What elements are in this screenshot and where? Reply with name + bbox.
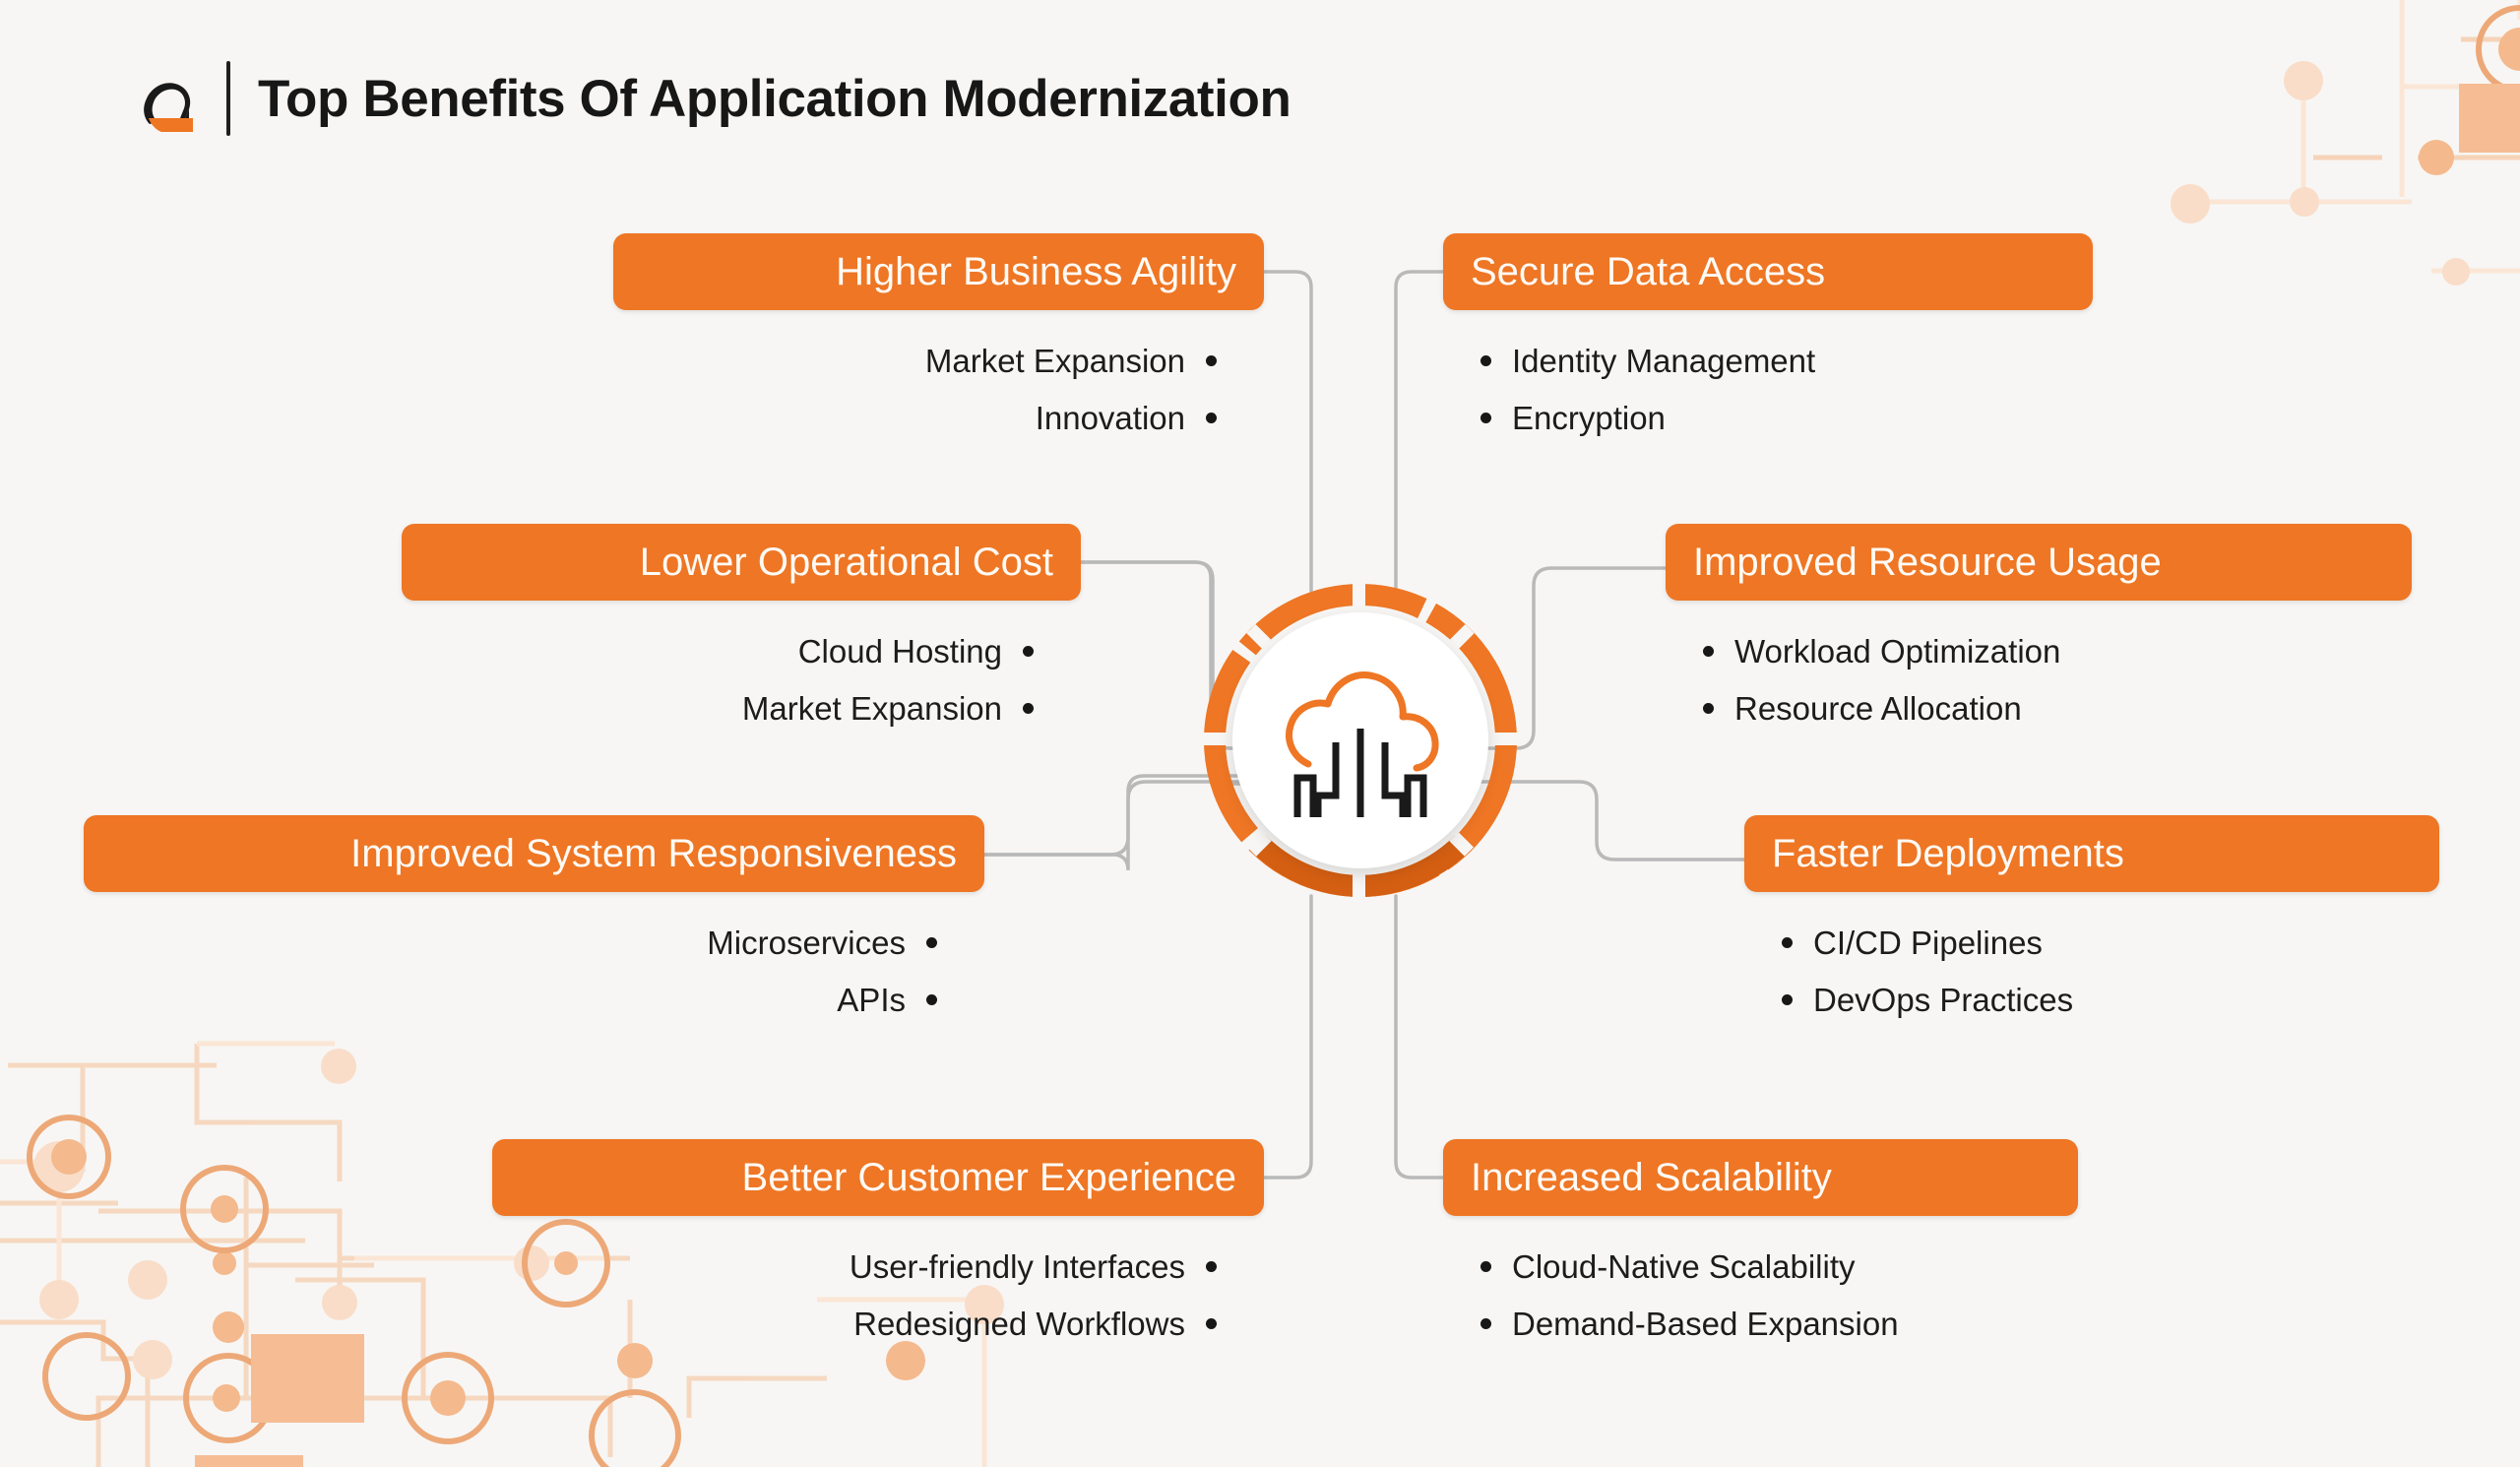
- benefit-point-list: Cloud Hosting Market Expansion: [402, 622, 1081, 736]
- bullet-dot-icon: [1703, 646, 1714, 657]
- benefit-chip[interactable]: Faster Deployments: [1744, 815, 2439, 892]
- benefit-point-list: Market Expansion Innovation: [613, 332, 1264, 446]
- benefit-node-higher-business-agility[interactable]: Higher Business Agility Market Expansion…: [613, 233, 1264, 446]
- benefit-point: Market Expansion: [402, 679, 1034, 736]
- benefit-node-faster-deployments[interactable]: Faster Deployments CI/CD Pipelines DevOp…: [1744, 815, 2439, 1028]
- benefit-point-list: Cloud-Native Scalability Demand-Based Ex…: [1443, 1238, 2078, 1352]
- benefit-chip[interactable]: Better Customer Experience: [492, 1139, 1264, 1216]
- benefit-point: Innovation: [613, 389, 1217, 446]
- benefit-point-label: User-friendly Interfaces: [850, 1250, 1185, 1283]
- benefit-point-label: Demand-Based Expansion: [1512, 1308, 1899, 1340]
- benefit-point: Market Expansion: [613, 332, 1217, 389]
- benefit-point-label: CI/CD Pipelines: [1813, 926, 2043, 959]
- benefit-title: Increased Scalability: [1471, 1158, 1832, 1197]
- benefit-point-list: Workload Optimization Resource Allocatio…: [1666, 622, 2412, 736]
- benefit-point: CI/CD Pipelines: [1782, 914, 2439, 971]
- bullet-dot-icon: [1703, 703, 1714, 714]
- center-hub: [1203, 583, 1518, 898]
- benefit-chip[interactable]: Secure Data Access: [1443, 233, 2093, 310]
- benefit-chip[interactable]: Higher Business Agility: [613, 233, 1264, 310]
- bullet-dot-icon: [926, 994, 937, 1005]
- bullet-dot-icon: [1023, 703, 1034, 714]
- benefit-point: Identity Management: [1480, 332, 2093, 389]
- benefit-node-secure-data-access[interactable]: Secure Data Access Identity Management E…: [1443, 233, 2093, 446]
- benefit-node-increased-scalability[interactable]: Increased Scalability Cloud-Native Scala…: [1443, 1139, 2078, 1352]
- page-title: Top Benefits Of Application Modernizatio…: [258, 73, 1291, 125]
- benefit-title: Secure Data Access: [1471, 252, 1825, 291]
- benefit-chip[interactable]: Lower Operational Cost: [402, 524, 1081, 601]
- benefit-point-list: Identity Management Encryption: [1443, 332, 2093, 446]
- benefit-point: Encryption: [1480, 389, 2093, 446]
- benefit-point-label: Redesigned Workflows: [853, 1308, 1185, 1340]
- brand-logo-icon: [138, 57, 199, 140]
- benefit-title: Improved System Responsiveness: [350, 834, 957, 873]
- benefit-point-label: Cloud-Native Scalability: [1512, 1250, 1855, 1283]
- benefit-point-label: Workload Optimization: [1734, 635, 2060, 668]
- benefit-title: Lower Operational Cost: [640, 542, 1053, 582]
- benefit-node-lower-operational-cost[interactable]: Lower Operational Cost Cloud Hosting Mar…: [402, 524, 1081, 736]
- benefit-title: Higher Business Agility: [836, 252, 1236, 291]
- benefit-point-label: Resource Allocation: [1734, 692, 2022, 725]
- bullet-dot-icon: [1782, 937, 1793, 948]
- bullet-dot-icon: [1206, 1261, 1217, 1272]
- benefit-point: Resource Allocation: [1703, 679, 2412, 736]
- bullet-dot-icon: [1023, 646, 1034, 657]
- benefit-point: Microservices: [84, 914, 937, 971]
- benefit-node-better-customer-experience[interactable]: Better Customer Experience User-friendly…: [492, 1139, 1264, 1352]
- benefit-point: DevOps Practices: [1782, 971, 2439, 1028]
- benefit-point-label: Market Expansion: [742, 692, 1002, 725]
- benefit-point-label: Market Expansion: [925, 345, 1185, 377]
- benefit-title: Faster Deployments: [1772, 834, 2124, 873]
- page-header: Top Benefits Of Application Modernizatio…: [138, 54, 1291, 143]
- bullet-dot-icon: [1480, 355, 1491, 366]
- benefit-point-label: Cloud Hosting: [798, 635, 1002, 668]
- benefit-point-label: Encryption: [1512, 402, 1666, 434]
- benefit-node-improved-resource-usage[interactable]: Improved Resource Usage Workload Optimiz…: [1666, 524, 2412, 736]
- bullet-dot-icon: [1480, 1261, 1491, 1272]
- bullet-dot-icon: [1480, 413, 1491, 423]
- bullet-dot-icon: [1206, 1318, 1217, 1329]
- benefit-chip[interactable]: Increased Scalability: [1443, 1139, 2078, 1216]
- header-divider: [226, 61, 230, 136]
- benefit-chip[interactable]: Improved System Responsiveness: [84, 815, 984, 892]
- benefit-point: Demand-Based Expansion: [1480, 1295, 2078, 1352]
- bullet-dot-icon: [926, 937, 937, 948]
- benefit-point-label: Identity Management: [1512, 345, 1815, 377]
- benefit-point: Cloud Hosting: [402, 622, 1034, 679]
- benefit-point: Cloud-Native Scalability: [1480, 1238, 2078, 1295]
- benefit-point-list: CI/CD Pipelines DevOps Practices: [1744, 914, 2439, 1028]
- cloud-circuit-icon: [1276, 658, 1445, 820]
- benefit-chip[interactable]: Improved Resource Usage: [1666, 524, 2412, 601]
- benefit-point-list: User-friendly Interfaces Redesigned Work…: [492, 1238, 1264, 1352]
- benefit-point: APIs: [84, 971, 937, 1028]
- benefit-point-label: APIs: [837, 984, 906, 1016]
- bullet-dot-icon: [1206, 413, 1217, 423]
- benefit-point-label: DevOps Practices: [1813, 984, 2073, 1016]
- benefit-title: Better Customer Experience: [742, 1158, 1236, 1197]
- benefit-node-improved-system-responsiveness[interactable]: Improved System Responsiveness Microserv…: [84, 815, 984, 1028]
- benefit-point: Workload Optimization: [1703, 622, 2412, 679]
- benefit-point-list: Microservices APIs: [84, 914, 984, 1028]
- benefit-point: User-friendly Interfaces: [492, 1238, 1217, 1295]
- benefit-point: Redesigned Workflows: [492, 1295, 1217, 1352]
- benefit-title: Improved Resource Usage: [1693, 542, 2162, 582]
- benefit-point-label: Microservices: [707, 926, 906, 959]
- bullet-dot-icon: [1782, 994, 1793, 1005]
- benefit-point-label: Innovation: [1036, 402, 1185, 434]
- bullet-dot-icon: [1480, 1318, 1491, 1329]
- bullet-dot-icon: [1206, 355, 1217, 366]
